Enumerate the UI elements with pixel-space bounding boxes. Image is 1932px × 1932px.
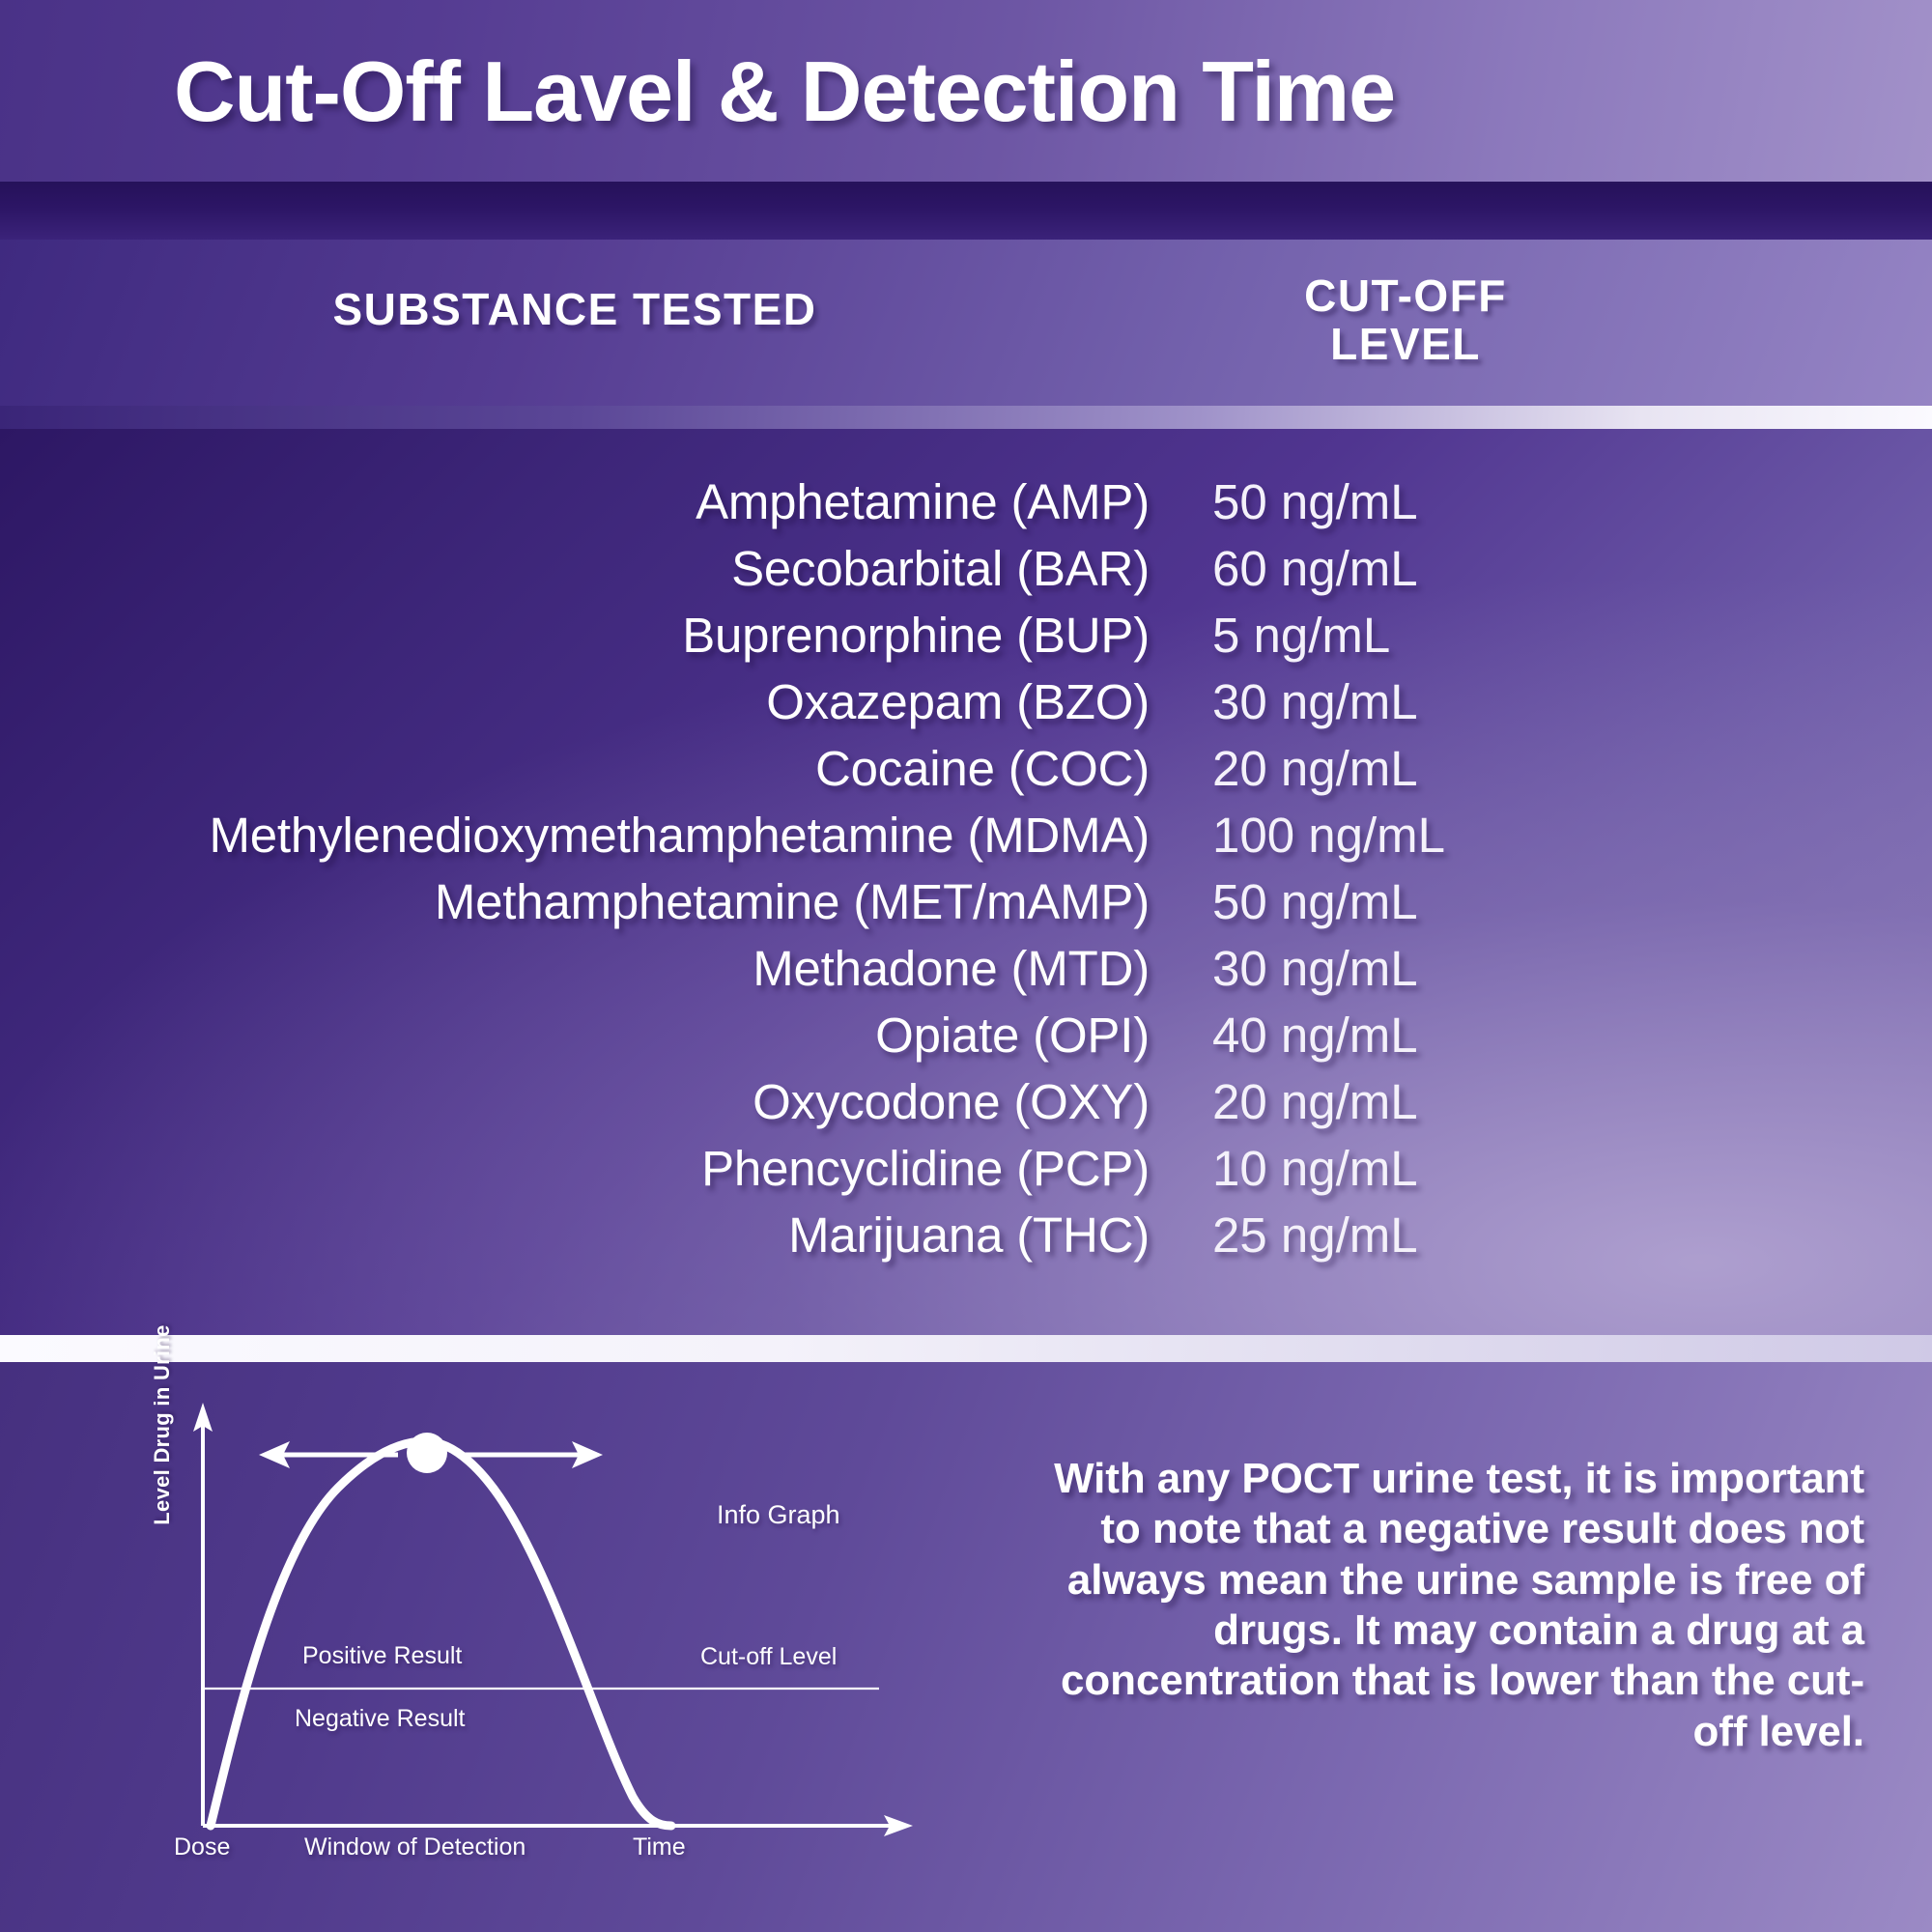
cell-cutoff-level: 5 ng/mL [1150, 607, 1932, 664]
negative-result-label: Negative Result [295, 1705, 465, 1733]
table-row: Secobarbital (BAR)60 ng/mL [0, 540, 1932, 607]
cell-substance: Buprenorphine (BUP) [0, 607, 1150, 664]
cell-substance: Cocaine (COC) [0, 740, 1150, 797]
cell-cutoff-level: 50 ng/mL [1150, 873, 1932, 930]
cell-cutoff-level: 30 ng/mL [1150, 673, 1932, 730]
cell-substance: Oxazepam (BZO) [0, 673, 1150, 730]
poct-note-text: With any POCT urine test, it is importan… [1048, 1454, 1864, 1757]
cell-substance: Amphetamine (AMP) [0, 473, 1150, 530]
table-row: Methylenedioxymethamphetamine (MDMA)100 … [0, 807, 1932, 873]
cell-substance: Phencyclidine (PCP) [0, 1140, 1150, 1197]
cell-cutoff-level: 100 ng/mL [1150, 807, 1932, 864]
cell-cutoff-level: 30 ng/mL [1150, 940, 1932, 997]
info-graph: Level Drug in Urine Info Graph Positive … [145, 1372, 947, 1913]
table-row: Marijuana (THC)25 ng/mL [0, 1207, 1932, 1273]
table-header-row: SUBSTANCE TESTED CUT-OFF LEVEL [0, 240, 1932, 409]
column-header-cutoff-line1: CUT-OFF [1212, 272, 1599, 321]
table-row: Cocaine (COC)20 ng/mL [0, 740, 1932, 807]
column-header-cutoff-level: CUT-OFF LEVEL [1212, 272, 1599, 368]
graph-caption: Info Graph [717, 1500, 840, 1530]
header-divider-strip [0, 406, 1932, 429]
cell-substance: Opiate (OPI) [0, 1007, 1150, 1064]
cell-substance: Methylenedioxymethamphetamine (MDMA) [0, 807, 1150, 864]
peak-marker-dot [407, 1433, 447, 1473]
table-rows-container: Amphetamine (AMP)50 ng/mLSecobarbital (B… [0, 473, 1932, 1273]
cell-substance: Methamphetamine (MET/mAMP) [0, 873, 1150, 930]
bottom-section: Level Drug in Urine Info Graph Positive … [0, 1362, 1932, 1932]
cell-cutoff-level: 20 ng/mL [1150, 1073, 1932, 1130]
cell-cutoff-level: 50 ng/mL [1150, 473, 1932, 530]
graph-canvas [145, 1372, 947, 1913]
x-axis-label-window: Window of Detection [304, 1833, 526, 1861]
cell-substance: Marijuana (THC) [0, 1207, 1150, 1264]
window-left-arrow [259, 1441, 398, 1468]
cell-substance: Methadone (MTD) [0, 940, 1150, 997]
table-row: Oxycodone (OXY)20 ng/mL [0, 1073, 1932, 1140]
title-shadow-band [0, 182, 1932, 240]
table-row: Methamphetamine (MET/mAMP)50 ng/mL [0, 873, 1932, 940]
table-row: Phencyclidine (PCP)10 ng/mL [0, 1140, 1932, 1207]
cell-substance: Secobarbital (BAR) [0, 540, 1150, 597]
x-axis-label-dose: Dose [174, 1833, 230, 1861]
positive-result-label: Positive Result [302, 1642, 462, 1670]
table-row: Opiate (OPI)40 ng/mL [0, 1007, 1932, 1073]
table-row: Buprenorphine (BUP)5 ng/mL [0, 607, 1932, 673]
table-row: Oxazepam (BZO)30 ng/mL [0, 673, 1932, 740]
table-body: Amphetamine (AMP)50 ng/mLSecobarbital (B… [0, 429, 1932, 1335]
column-header-substance: SUBSTANCE TESTED [0, 283, 1150, 335]
cell-cutoff-level: 20 ng/mL [1150, 740, 1932, 797]
title-banner: Cut-Off Lavel & Detection Time [0, 0, 1932, 184]
cell-substance: Oxycodone (OXY) [0, 1073, 1150, 1130]
section-divider-strip [0, 1335, 1932, 1362]
table-row: Amphetamine (AMP)50 ng/mL [0, 473, 1932, 540]
page-title: Cut-Off Lavel & Detection Time [174, 43, 1395, 141]
cutoff-level-label: Cut-off Level [700, 1643, 837, 1671]
y-axis-label-wrap: Level Drug in Urine [150, 1299, 175, 1550]
concentration-curve [211, 1441, 671, 1826]
window-right-arrow [464, 1441, 603, 1468]
column-header-cutoff-line2: LEVEL [1212, 321, 1599, 369]
table-row: Methadone (MTD)30 ng/mL [0, 940, 1932, 1007]
cell-cutoff-level: 40 ng/mL [1150, 1007, 1932, 1064]
infographic-root: Cut-Off Lavel & Detection Time SUBSTANCE… [0, 0, 1932, 1932]
cell-cutoff-level: 25 ng/mL [1150, 1207, 1932, 1264]
cell-cutoff-level: 10 ng/mL [1150, 1140, 1932, 1197]
cell-cutoff-level: 60 ng/mL [1150, 540, 1932, 597]
y-axis-label: Level Drug in Urine [150, 1299, 175, 1550]
x-axis-label-time: Time [633, 1833, 686, 1861]
